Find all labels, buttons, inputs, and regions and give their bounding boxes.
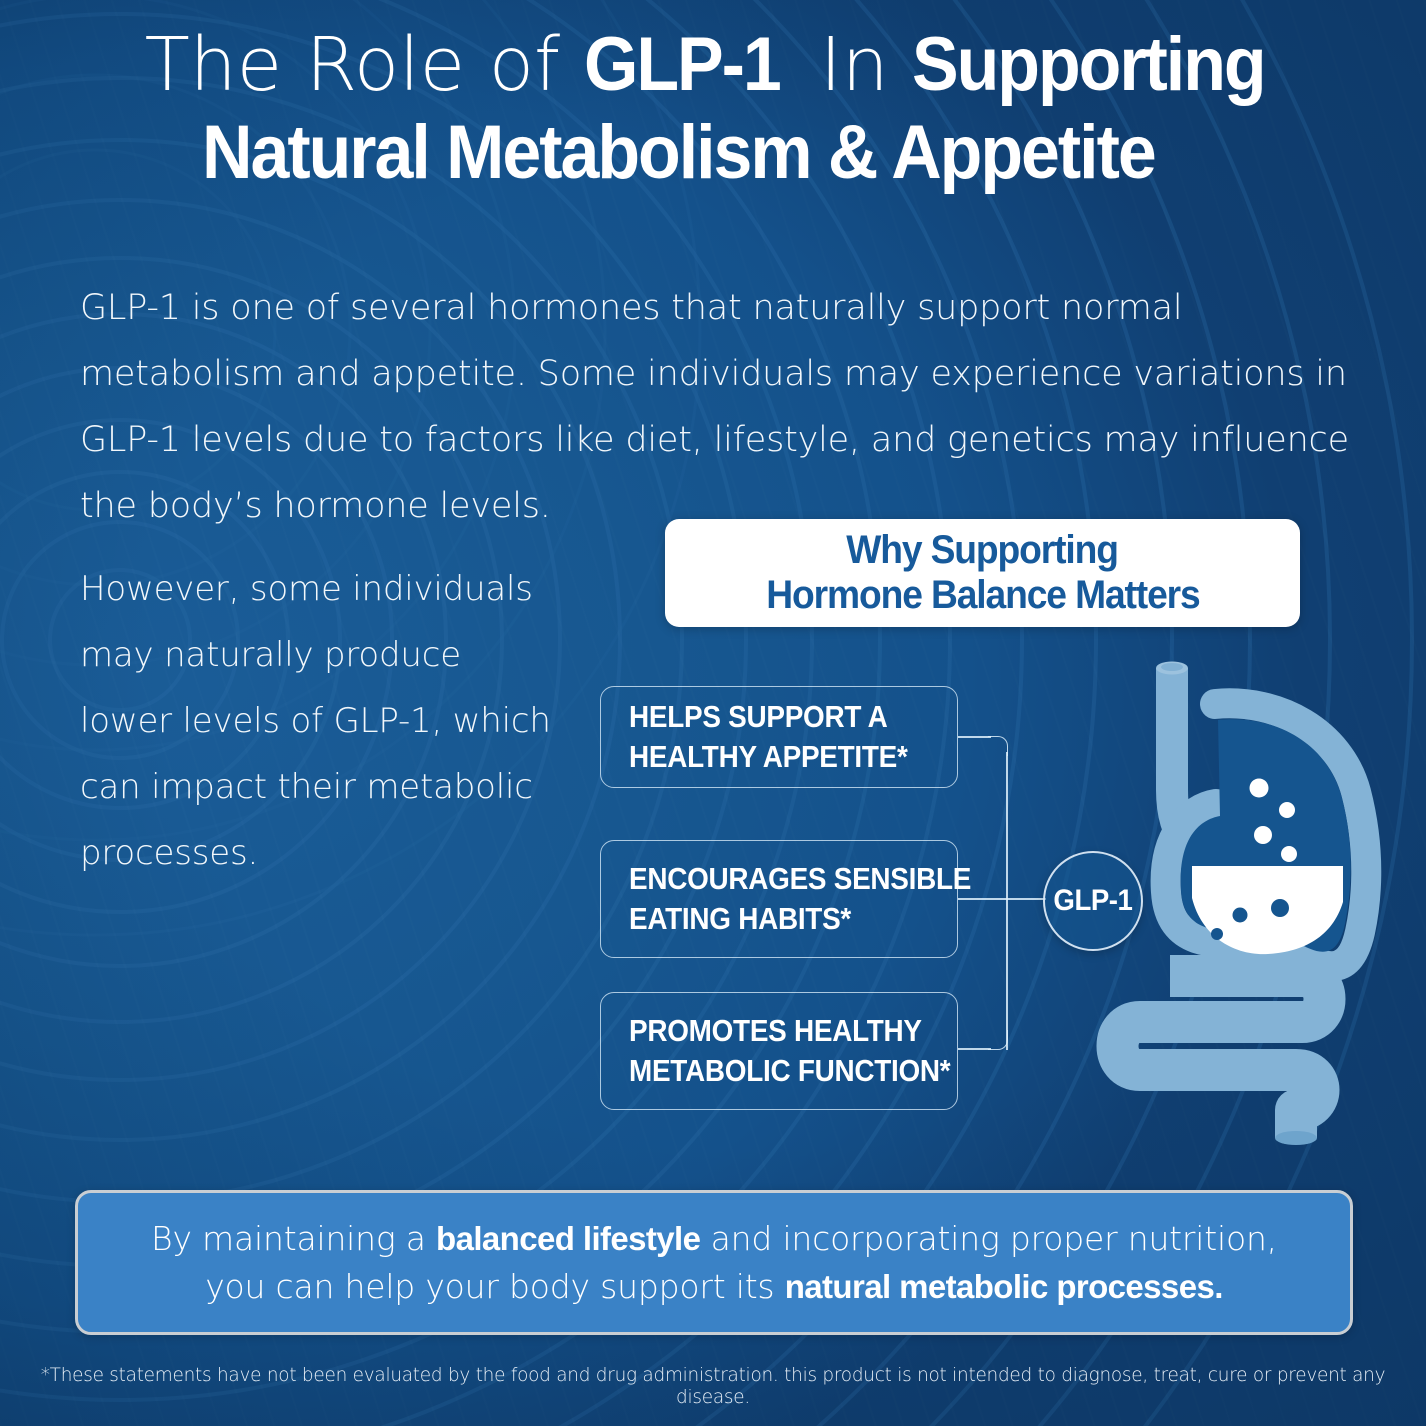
callout-line-1-c: and incorporating proper nutrition, [700, 1219, 1277, 1258]
panel-heading-line-2: Hormone Balance Matters [766, 573, 1199, 618]
connector-bottom-stub [958, 1048, 991, 1050]
benefit-1-line-2: EATING HABITS* [629, 899, 899, 939]
benefit-box-metabolic-function[interactable]: PROMOTES HEALTHY METABOLIC FUNCTION* [600, 992, 958, 1110]
infographic-page: The Role of GLP-1 In Supporting Natural … [0, 0, 1426, 1426]
benefit-2-line-2: METABOLIC FUNCTION* [629, 1051, 899, 1091]
benefit-2-line-1: PROMOTES HEALTHY [629, 1011, 899, 1051]
bottom-callout-box: By maintaining a balanced lifestyle and … [75, 1190, 1353, 1335]
page-title: The Role of GLP-1 In Supporting Natural … [70, 26, 1370, 191]
panel-heading-card: Why Supporting Hormone Balance Matters [665, 519, 1300, 627]
page-title-line-2: Natural Metabolism & Appetite [70, 114, 1370, 192]
footer-disclaimer: *These statements have not been evaluate… [21, 1364, 1404, 1408]
glp1-node-label: GLP-1 [1053, 884, 1132, 918]
left-column-paragraph: However, some individuals may naturally … [80, 556, 560, 886]
benefit-0-line-1: HELPS SUPPORT A [629, 697, 899, 737]
connector-top-corner [988, 736, 1008, 756]
callout-line-2-bold: natural metabolic processes. [785, 1268, 1223, 1305]
intestine-icon [1118, 976, 1325, 1145]
benefit-box-healthy-appetite[interactable]: HELPS SUPPORT A HEALTHY APPETITE* [600, 686, 958, 788]
title-thin-in: In [796, 22, 912, 108]
connector-top-stub [958, 736, 991, 738]
callout-line-1-a: By maintaining a [151, 1219, 436, 1258]
benefit-1-line-1: ENCOURAGES SENSIBLE [629, 859, 899, 899]
glp1-node: GLP-1 [1043, 851, 1143, 951]
panel-heading-line-1: Why Supporting [847, 528, 1119, 573]
title-thin-the-role-of: The Role of [145, 22, 584, 108]
callout-line-1: By maintaining a balanced lifestyle and … [151, 1215, 1277, 1263]
callout-line-1-bold: balanced lifestyle [436, 1220, 700, 1257]
title-bold-glp1: GLP-1 [584, 26, 780, 104]
connector-bottom-corner [988, 1030, 1008, 1050]
callout-line-2-a: you can help your body support its [205, 1267, 785, 1306]
title-bold-natural-metabolism-appetite: Natural Metabolism & Appetite [202, 114, 1155, 192]
benefit-box-sensible-eating[interactable]: ENCOURAGES SENSIBLE EATING HABITS* [600, 840, 958, 958]
connector-trunk [1006, 752, 1008, 1050]
page-title-line-1: The Role of GLP-1 In Supporting [70, 26, 1370, 104]
intro-paragraph: GLP-1 is one of several hormones that na… [80, 275, 1370, 539]
title-bold-supporting: Supporting [912, 26, 1265, 104]
callout-line-2: you can help your body support its natur… [205, 1263, 1223, 1311]
connector-middle-run [958, 898, 1046, 900]
benefit-0-line-2: HEALTHY APPETITE* [629, 737, 899, 777]
